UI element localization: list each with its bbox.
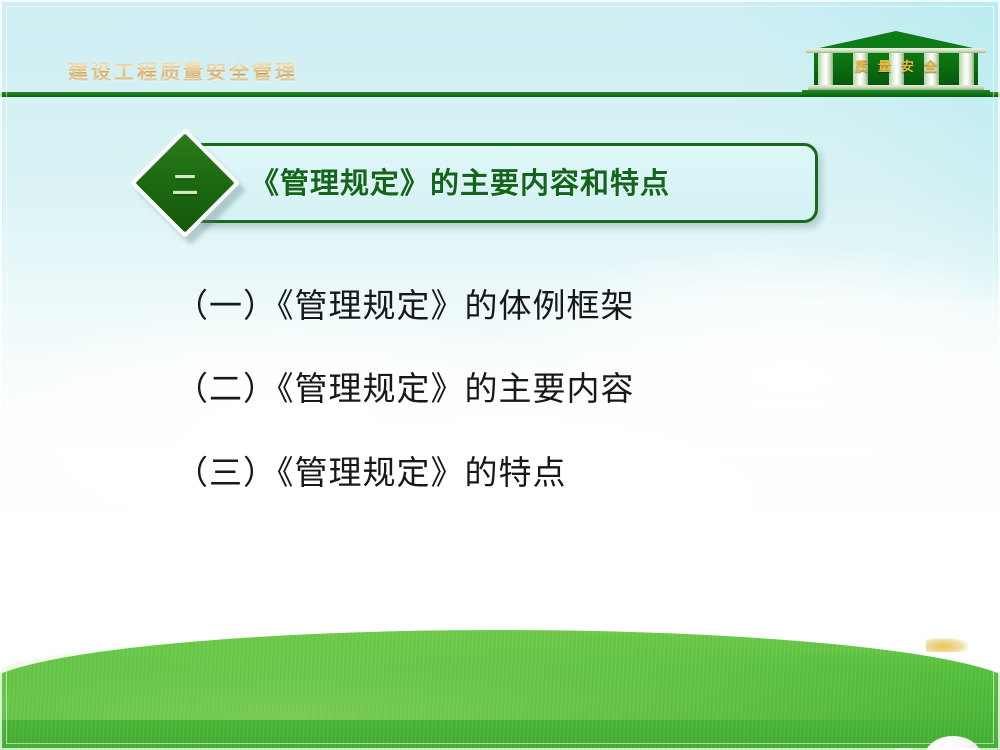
logo-text: 质量安全 xyxy=(814,61,978,74)
list-item: （二）《管理规定》的主要内容 xyxy=(175,371,875,407)
section-title-banner: 《管理规定》的主要内容和特点 二 xyxy=(130,128,830,238)
temple-base-icon xyxy=(802,90,990,97)
slide-header: 建设工程质量安全管理 质量安全 xyxy=(0,0,1000,100)
section-title-text: 《管理规定》的主要内容和特点 xyxy=(250,160,670,202)
flowers-icon xyxy=(926,638,968,652)
grass-highlight xyxy=(0,630,1000,720)
list-item: （三）《管理规定》的特点 xyxy=(175,455,875,491)
section-number-diamond: 二 xyxy=(130,128,240,238)
grass-hill xyxy=(0,630,1000,750)
outline-list: （一）《管理规定》的体例框架 （二）《管理规定》的主要内容 （三）《管理规定》的… xyxy=(175,288,875,491)
presentation-slide: 建设工程质量安全管理 质量安全 《管理规定》的主要内容和特点 二 xyxy=(0,0,1000,750)
quality-safety-temple-logo: 质量安全 xyxy=(806,31,986,97)
header-title: 建设工程质量安全管理 xyxy=(68,62,298,82)
section-number-label: 二 xyxy=(130,128,240,238)
list-item: （一）《管理规定》的体例框架 xyxy=(175,288,875,324)
